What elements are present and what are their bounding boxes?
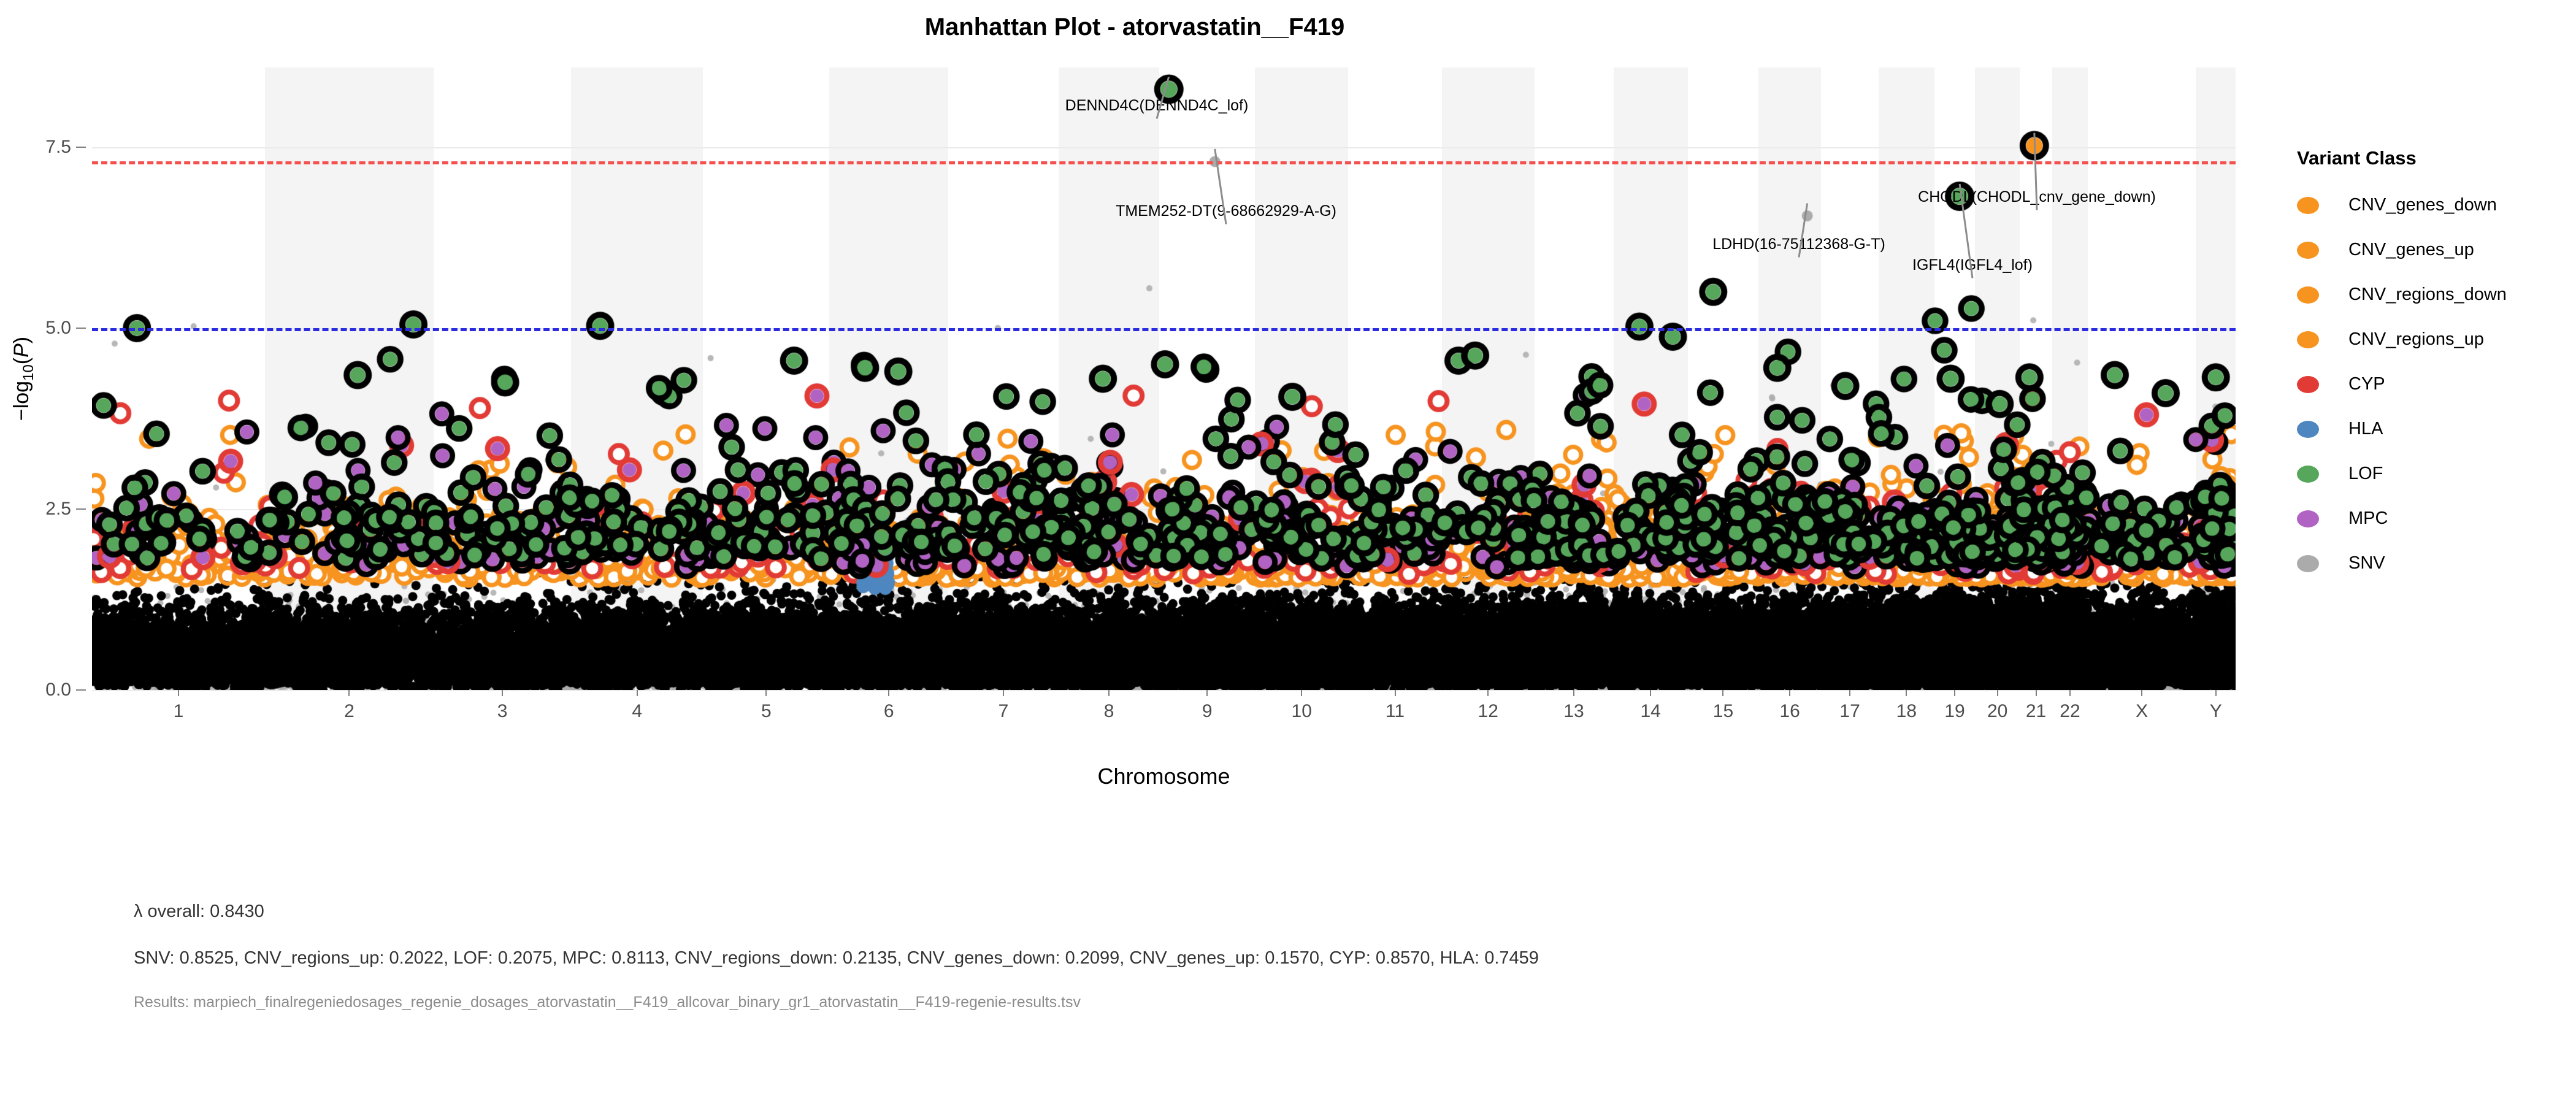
x-axis-tick-label: 5 bbox=[761, 701, 772, 722]
legend-item-label: CYP bbox=[2348, 374, 2385, 394]
x-axis-tick-label: 6 bbox=[884, 701, 894, 722]
x-axis-tick-mark bbox=[502, 690, 503, 696]
x-axis-tick-label: X bbox=[2136, 701, 2148, 722]
y-axis-tick-mark bbox=[76, 147, 86, 148]
x-axis-tick-label: 1 bbox=[174, 701, 184, 722]
x-axis-tick-label: 13 bbox=[1563, 701, 1584, 722]
x-axis-tick-label: 20 bbox=[1987, 701, 2007, 722]
legend-color-swatch-icon bbox=[2297, 555, 2319, 572]
x-axis-label: Chromosome bbox=[92, 764, 2236, 789]
legend-item[interactable]: CNV_regions_up bbox=[2291, 317, 2555, 362]
legend-item[interactable]: CYP bbox=[2291, 362, 2555, 407]
legend-color-swatch-icon bbox=[2297, 421, 2319, 438]
legend-item[interactable]: MPC bbox=[2291, 496, 2555, 541]
legend-item-label: CNV_genes_up bbox=[2348, 240, 2474, 260]
legend-color-swatch-icon bbox=[2297, 286, 2319, 304]
y-axis-tick-label: 2.5 bbox=[45, 499, 71, 519]
x-axis-tick-mark bbox=[1301, 690, 1302, 696]
legend-item-label: CNV_regions_up bbox=[2348, 329, 2484, 350]
legend-item[interactable]: LOF bbox=[2291, 451, 2555, 496]
x-axis-tick-label: 21 bbox=[2026, 701, 2046, 722]
plot-panel: DENND4C(DENND4C_lof)TMEM252-DT(9-6866292… bbox=[92, 67, 2236, 690]
legend-items: CNV_genes_downCNV_genes_upCNV_regions_do… bbox=[2291, 183, 2555, 586]
x-axis-tick-mark bbox=[888, 690, 889, 696]
x-axis-tick-mark bbox=[1487, 690, 1489, 696]
x-axis-tick-mark bbox=[348, 690, 350, 696]
x-axis-tick-label: 17 bbox=[1839, 701, 1860, 722]
lambda-overall-text: λ overall: 0.8430 bbox=[134, 902, 264, 922]
x-axis-tick-mark bbox=[2215, 690, 2217, 696]
legend-item-label: CNV_genes_down bbox=[2348, 195, 2497, 215]
legend-item[interactable]: CNV_regions_down bbox=[2291, 272, 2555, 317]
x-axis-tick-mark bbox=[765, 690, 767, 696]
legend-item[interactable]: CNV_genes_up bbox=[2291, 228, 2555, 272]
x-axis-tick-mark bbox=[1722, 690, 1723, 696]
lambda-by-class-text: SNV: 0.8525, CNV_regions_up: 0.2022, LOF… bbox=[134, 948, 1539, 968]
y-axis-tick-mark bbox=[76, 689, 86, 691]
x-axis-tick-label: 12 bbox=[1478, 701, 1498, 722]
y-axis-tick-mark bbox=[76, 328, 86, 329]
y-axis-tick-label: 0.0 bbox=[45, 680, 71, 700]
manhattan-plot-figure: Manhattan Plot - atorvastatin__F419 0.02… bbox=[0, 0, 2576, 1104]
legend: Variant Class CNV_genes_downCNV_genes_up… bbox=[2291, 147, 2555, 586]
x-axis-tick-label: 3 bbox=[497, 701, 508, 722]
gene-annotation-label: DENND4C(DENND4C_lof) bbox=[1065, 97, 1249, 115]
legend-item-label: CNV_regions_down bbox=[2348, 285, 2507, 305]
x-axis-tick-mark bbox=[1395, 690, 1396, 696]
x-axis-tick-label: 18 bbox=[1896, 701, 1917, 722]
x-axis-tick-label: 22 bbox=[2060, 701, 2080, 722]
x-axis-tick-mark bbox=[1954, 690, 1955, 696]
legend-item[interactable]: SNV bbox=[2291, 541, 2555, 586]
results-file-text: Results: marpiech_finalregeniedosages_re… bbox=[134, 994, 1081, 1011]
legend-item-label: HLA bbox=[2348, 419, 2383, 439]
x-axis-tick-mark bbox=[1003, 690, 1004, 696]
legend-color-swatch-icon bbox=[2297, 376, 2319, 393]
gene-annotations: DENND4C(DENND4C_lof)TMEM252-DT(9-6866292… bbox=[92, 67, 2236, 690]
legend-item-label: SNV bbox=[2348, 553, 2385, 573]
x-axis: 12345678910111213141516171819202122XY bbox=[92, 690, 2236, 733]
legend-item-label: LOF bbox=[2348, 464, 2383, 484]
y-axis-tick-label: 5.0 bbox=[45, 318, 71, 339]
y-axis-label: −log10(P) bbox=[5, 67, 42, 690]
y-axis-tick-mark bbox=[76, 508, 86, 510]
legend-color-swatch-icon bbox=[2297, 331, 2319, 348]
x-axis-tick-label: 15 bbox=[1713, 701, 1733, 722]
x-axis-tick-mark bbox=[1789, 690, 1790, 696]
x-axis-tick-mark bbox=[2036, 690, 2037, 696]
x-axis-tick-mark bbox=[2141, 690, 2142, 696]
x-axis-tick-mark bbox=[1573, 690, 1574, 696]
x-axis-tick-mark bbox=[1206, 690, 1208, 696]
x-axis-tick-label: 16 bbox=[1779, 701, 1800, 722]
legend-title: Variant Class bbox=[2297, 147, 2555, 169]
legend-color-swatch-icon bbox=[2297, 510, 2319, 527]
x-axis-tick-mark bbox=[2069, 690, 2071, 696]
y-axis-label-text: −log10(P) bbox=[10, 337, 37, 421]
legend-color-swatch-icon bbox=[2297, 197, 2319, 214]
x-axis-tick-mark bbox=[1849, 690, 1850, 696]
legend-item[interactable]: CNV_genes_down bbox=[2291, 183, 2555, 228]
x-axis-tick-mark bbox=[637, 690, 638, 696]
x-axis-tick-label: 19 bbox=[1944, 701, 1965, 722]
x-axis-tick-label: 4 bbox=[632, 701, 642, 722]
x-axis-tick-label: Y bbox=[2210, 701, 2222, 722]
x-axis-tick-label: 8 bbox=[1104, 701, 1114, 722]
x-axis-tick-label: 7 bbox=[999, 701, 1009, 722]
x-axis-tick-label: 14 bbox=[1640, 701, 1660, 722]
x-axis-tick-label: 11 bbox=[1386, 701, 1405, 722]
x-axis-tick-label: 2 bbox=[344, 701, 355, 722]
legend-item[interactable]: HLA bbox=[2291, 407, 2555, 451]
x-axis-tick-mark bbox=[1997, 690, 1998, 696]
x-axis-tick-mark bbox=[1108, 690, 1110, 696]
x-axis-tick-label: 10 bbox=[1292, 701, 1312, 722]
legend-color-swatch-icon bbox=[2297, 466, 2319, 483]
legend-color-swatch-icon bbox=[2297, 242, 2319, 259]
x-axis-tick-mark bbox=[178, 690, 179, 696]
x-axis-tick-label: 9 bbox=[1202, 701, 1213, 722]
page-title: Manhattan Plot - atorvastatin__F419 bbox=[0, 13, 2269, 41]
x-axis-tick-mark bbox=[1650, 690, 1651, 696]
x-axis-tick-mark bbox=[1906, 690, 1907, 696]
y-axis-tick-label: 7.5 bbox=[45, 137, 71, 158]
legend-item-label: MPC bbox=[2348, 508, 2388, 529]
